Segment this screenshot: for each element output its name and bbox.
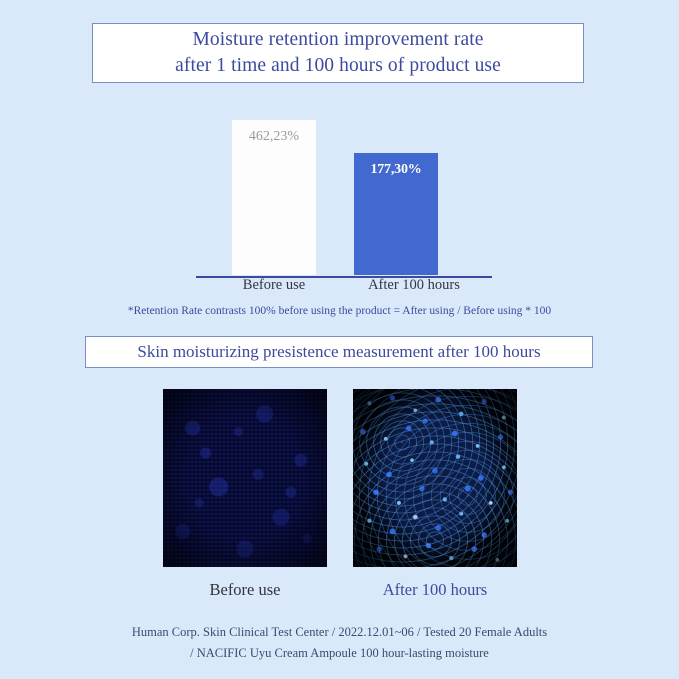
infographic-page: Moisture retention improvement rate afte… [0, 0, 679, 679]
photo-caption-after-100-hours: After 100 hours [353, 580, 517, 600]
axis-label-after-100-hours: After 100 hours [344, 277, 484, 294]
bar-value-after-100-hours: 177,30% [370, 162, 421, 275]
footer-line-2: / NACIFIC Uyu Cream Ampoule 100 hour-las… [0, 643, 679, 664]
footer-line-1: Human Corp. Skin Clinical Test Center / … [0, 622, 679, 643]
photo-after-100-hours [353, 389, 517, 567]
chart-footnote: *Retention Rate contrasts 100% before us… [0, 305, 679, 317]
bar-before-use: 462,23% [232, 120, 316, 275]
title-line-2: after 1 time and 100 hours of product us… [175, 53, 501, 79]
bar-after-100-hours: 177,30% [354, 153, 438, 275]
photo-before-use [163, 389, 327, 567]
section-header-title: Skin moisturizing presistence measuremen… [137, 342, 540, 362]
chart-axis-labels: Before use After 100 hours [196, 277, 492, 297]
photo-comparison [0, 389, 679, 569]
photo-caption-before-use: Before use [163, 580, 327, 600]
photo-captions: Before use After 100 hours [0, 580, 679, 604]
photo-after-vignette [353, 389, 517, 567]
title-line-1: Moisture retention improvement rate [192, 27, 483, 53]
bar-chart: 462,23% 177,30% [196, 105, 492, 275]
axis-label-before-use: Before use [210, 277, 338, 294]
photo-before-vignette [163, 389, 327, 567]
section-header-box: Skin moisturizing presistence measuremen… [85, 336, 593, 368]
title-box: Moisture retention improvement rate afte… [92, 23, 584, 83]
bar-value-before-use: 462,23% [249, 129, 299, 275]
footer-credits: Human Corp. Skin Clinical Test Center / … [0, 622, 679, 664]
